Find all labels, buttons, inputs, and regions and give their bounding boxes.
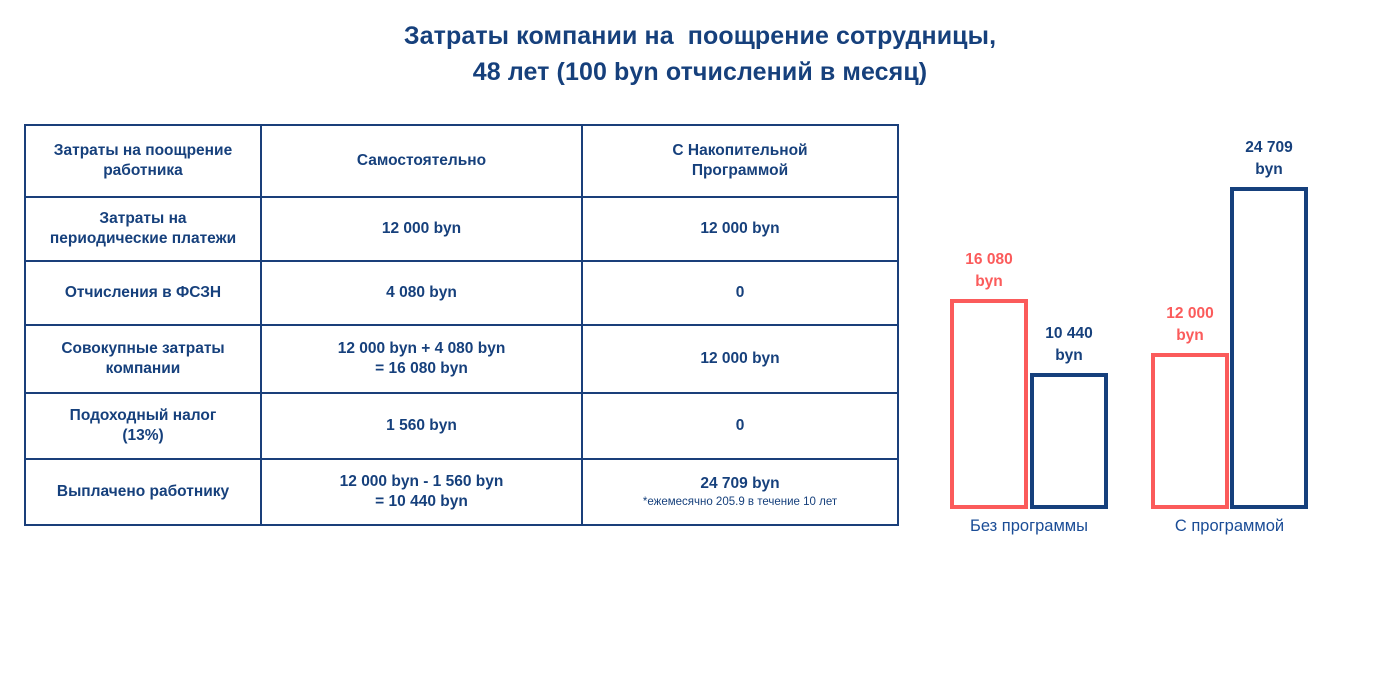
row-self-cell: 12 000 byn - 1 560 byn = 10 440 byn [261, 459, 582, 525]
table-row: Подоходный налог (13%) 1 560 byn 0 [25, 393, 898, 459]
header-program-line-2: Программой [589, 161, 891, 181]
cost-comparison-table-wrapper: Затраты на поощрение работника Самостоят… [24, 124, 897, 526]
chart-category-labels: Без программыС программой [930, 514, 1330, 544]
row-self-cell: 4 080 byn [261, 261, 582, 325]
row-program-cell: 24 709 byn *ежемесячно 205.9 в течение 1… [582, 459, 898, 525]
row-self-cell: 12 000 byn + 4 080 byn = 16 080 byn [261, 325, 582, 393]
row-label-cell: Затраты на периодические платежи [25, 197, 261, 261]
row-label-cell: Выплачено работнику [25, 459, 261, 525]
row-program-line-1: 24 709 byn [589, 474, 891, 494]
table-row: Затраты на периодические платежи 12 000 … [25, 197, 898, 261]
table-header-cell-self: Самостоятельно [261, 125, 582, 197]
table-row: Выплачено работнику 12 000 byn - 1 560 b… [25, 459, 898, 525]
chart-bar-4 [1230, 187, 1308, 509]
row-label-line-1: Затраты на [32, 209, 254, 229]
header-program-line-1: С Накопительной [589, 141, 891, 161]
chart-plot-area: 16 080 byn10 440 byn12 000 byn24 709 byn [930, 124, 1330, 509]
page-title: Затраты компании на поощрение сотрудницы… [0, 18, 1400, 90]
page-title-line-1: Затраты компании на поощрение сотрудницы… [0, 18, 1400, 54]
row-label-line-1: Выплачено работнику [32, 482, 254, 502]
chart-category-label-1: Без программы [950, 514, 1108, 538]
row-program-line-1: 12 000 byn [589, 219, 891, 239]
chart-bar-3 [1151, 353, 1229, 509]
cost-comparison-table: Затраты на поощрение работника Самостоят… [24, 124, 899, 526]
row-program-cell: 0 [582, 261, 898, 325]
row-label-line-1: Совокупные затраты [32, 339, 254, 359]
table-header-cell-category: Затраты на поощрение работника [25, 125, 261, 197]
table-row: Отчисления в ФСЗН 4 080 byn 0 [25, 261, 898, 325]
page-title-line-2: 48 лет (100 byn отчислений в месяц) [0, 54, 1400, 90]
row-label-cell: Совокупные затраты компании [25, 325, 261, 393]
row-label-line-1: Подоходный налог [32, 406, 254, 426]
row-self-line-1: 12 000 byn [268, 219, 575, 239]
row-self-line-1: 4 080 byn [268, 283, 575, 303]
row-program-line-1: 0 [589, 416, 891, 436]
chart-bar-label-3: 12 000 byn [1142, 303, 1238, 347]
table-header-cell-program: С Накопительной Программой [582, 125, 898, 197]
row-label-line-1: Отчисления в ФСЗН [32, 283, 254, 303]
header-category-line-2: работника [32, 161, 254, 181]
row-self-line-1: 12 000 byn - 1 560 byn [268, 472, 575, 492]
row-program-cell: 12 000 byn [582, 325, 898, 393]
row-self-cell: 12 000 byn [261, 197, 582, 261]
header-category-line-1: Затраты на поощрение [32, 141, 254, 161]
comparison-bar-chart: 16 080 byn10 440 byn12 000 byn24 709 byn… [930, 124, 1330, 554]
chart-bar-label-1: 16 080 byn [941, 249, 1037, 293]
row-self-line-1: 1 560 byn [268, 416, 575, 436]
row-program-footnote: *ежемесячно 205.9 в течение 10 лет [589, 495, 891, 510]
chart-bar-2 [1030, 373, 1108, 509]
table-header-row: Затраты на поощрение работника Самостоят… [25, 125, 898, 197]
row-program-line-1: 0 [589, 283, 891, 303]
chart-bar-label-4: 24 709 byn [1221, 137, 1317, 181]
row-label-line-2: компании [32, 359, 254, 379]
chart-category-label-2: С программой [1151, 514, 1308, 538]
row-program-cell: 12 000 byn [582, 197, 898, 261]
row-program-cell: 0 [582, 393, 898, 459]
row-label-line-2: периодические платежи [32, 229, 254, 249]
row-self-line-2: = 10 440 byn [268, 492, 575, 512]
row-label-line-2: (13%) [32, 426, 254, 446]
row-self-cell: 1 560 byn [261, 393, 582, 459]
row-program-line-1: 12 000 byn [589, 349, 891, 369]
chart-bar-1 [950, 299, 1028, 509]
row-self-line-2: = 16 080 byn [268, 359, 575, 379]
table-row: Совокупные затраты компании 12 000 byn +… [25, 325, 898, 393]
chart-bar-label-2: 10 440 byn [1021, 323, 1117, 367]
row-label-cell: Отчисления в ФСЗН [25, 261, 261, 325]
row-label-cell: Подоходный налог (13%) [25, 393, 261, 459]
row-self-line-1: 12 000 byn + 4 080 byn [268, 339, 575, 359]
